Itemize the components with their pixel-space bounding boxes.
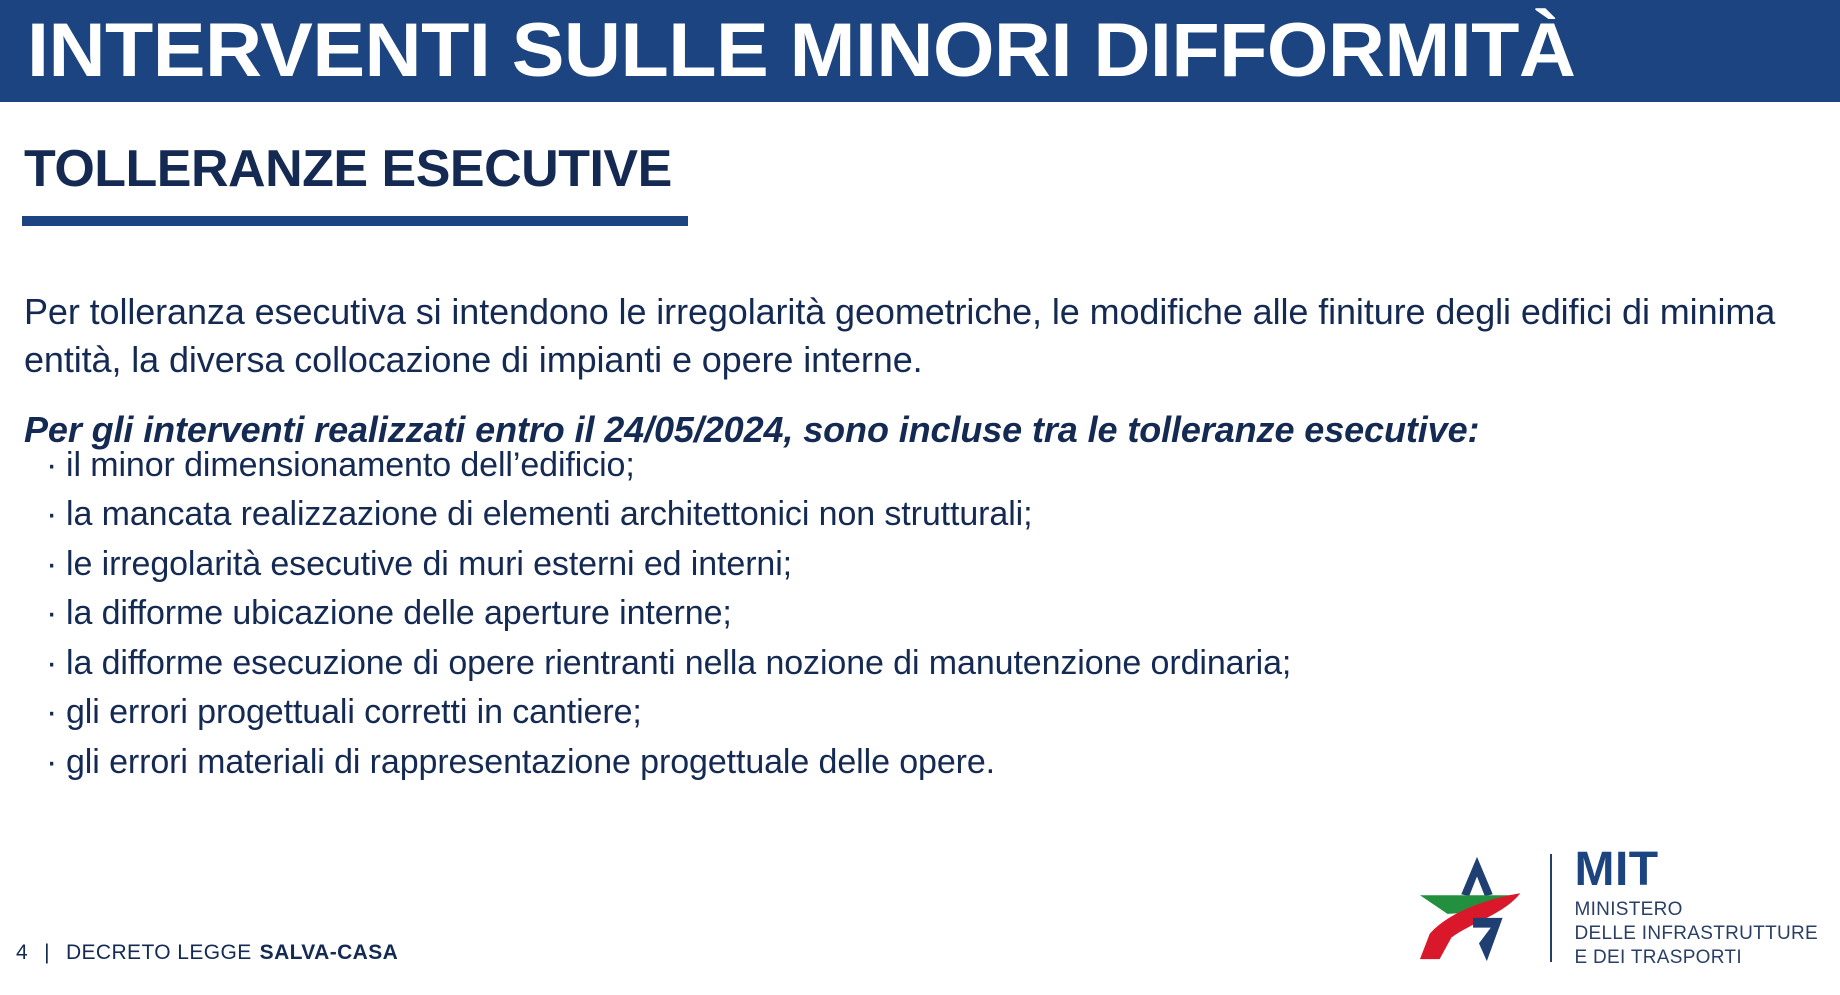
footer-document-name: SALVA-CASA <box>260 941 399 965</box>
list-item: ·gli errori progettuali corretti in cant… <box>46 688 1806 737</box>
mit-logo: MIT MINISTERO DELLE INFRASTRUTTURE E DEI… <box>1418 843 1818 973</box>
bullet-dot-icon: · <box>46 589 66 638</box>
slide-footer: 4 | DECRETO LEGGE SALVA-CASA <box>16 941 398 965</box>
logo-divider <box>1550 854 1552 962</box>
bullet-dot-icon: · <box>46 441 66 490</box>
list-item-label: il minor dimensionamento dell’edificio; <box>66 446 635 484</box>
list-item-label: la mancata realizzazione di elementi arc… <box>66 495 1032 533</box>
list-item: ·la difforme esecuzione di opere rientra… <box>46 639 1806 688</box>
heading-underline-divider <box>22 216 688 226</box>
list-item: ·le irregolarità esecutive di muri ester… <box>46 540 1806 589</box>
bullet-dot-icon: · <box>46 738 66 787</box>
list-item-label: gli errori materiali di rappresentazione… <box>66 743 995 781</box>
slide-header-bar: INTERVENTI SULLE MINORI DIFFORMITÀ <box>0 0 1840 102</box>
list-item-label: gli errori progettuali corretti in canti… <box>66 693 642 731</box>
page-number: 4 <box>16 941 28 965</box>
logo-subtitle-line-2: DELLE INFRASTRUTTURE <box>1574 922 1818 946</box>
list-item: ·la difforme ubicazione delle aperture i… <box>46 589 1806 638</box>
list-item: ·il minor dimensionamento dell’edificio; <box>46 441 1806 490</box>
bullet-dot-icon: · <box>46 490 66 539</box>
footer-separator: | <box>44 941 50 965</box>
list-item-label: la difforme esecuzione di opere rientran… <box>66 644 1291 682</box>
logo-subtitle: MINISTERO DELLE INFRASTRUTTURE E DEI TRA… <box>1574 898 1818 970</box>
logo-subtitle-line-3: E DEI TRASPORTI <box>1574 946 1818 970</box>
list-item: ·gli errori materiali di rappresentazion… <box>46 738 1806 787</box>
list-item: ·la mancata realizzazione di elementi ar… <box>46 490 1806 539</box>
bullet-dot-icon: · <box>46 639 66 688</box>
page-title: INTERVENTI SULLE MINORI DIFFORMITÀ <box>0 13 1576 89</box>
list-item-label: le irregolarità esecutive di muri estern… <box>66 545 792 583</box>
tolerances-bullet-list: ·il minor dimensionamento dell’edificio;… <box>46 441 1806 787</box>
intro-paragraph: Per tolleranza esecutiva si intendono le… <box>24 288 1814 383</box>
mit-star-icon <box>1418 849 1536 967</box>
bullet-dot-icon: · <box>46 540 66 589</box>
logo-wordmark: MIT MINISTERO DELLE INFRASTRUTTURE E DEI… <box>1574 846 1818 970</box>
bullet-dot-icon: · <box>46 688 66 737</box>
list-item-label: la difforme ubicazione delle aperture in… <box>66 594 732 632</box>
section-heading: TOLLERANZE ESECUTIVE <box>24 143 672 195</box>
logo-subtitle-line-1: MINISTERO <box>1574 898 1818 922</box>
logo-acronym: MIT <box>1574 846 1818 893</box>
footer-document-label: DECRETO LEGGE <box>66 941 252 965</box>
